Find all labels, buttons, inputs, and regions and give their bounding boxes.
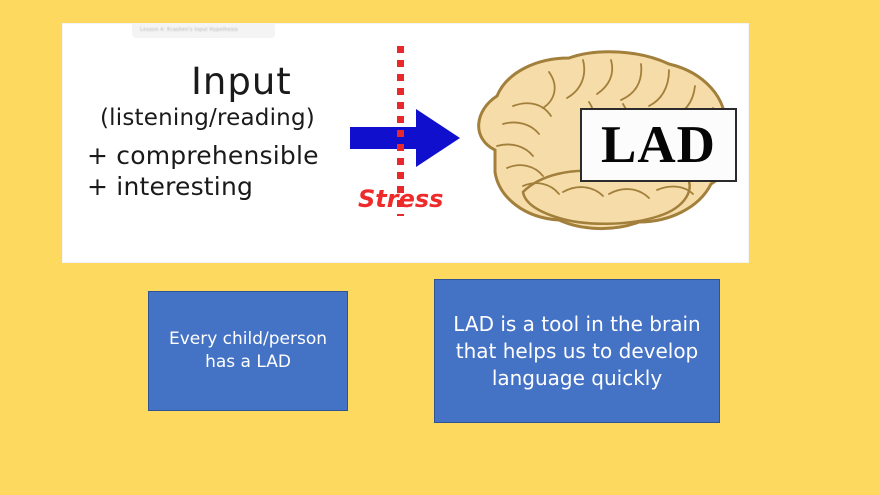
- slide-canvas: Lesson 4: Krashen's Input Hypothesis Inp…: [0, 0, 880, 495]
- brain-illustration: LAD: [463, 42, 743, 252]
- lad-label-box: LAD: [580, 108, 737, 182]
- bullet-interesting: + interesting: [87, 172, 253, 201]
- bullet-comprehensible: + comprehensible: [87, 141, 319, 170]
- input-hypothesis-image: Lesson 4: Krashen's Input Hypothesis Inp…: [63, 24, 748, 262]
- input-modes-label: (listening/reading): [100, 105, 315, 131]
- caption-box-lad-definition: LAD is a tool in the brain that helps us…: [434, 279, 720, 423]
- caption-box-every-child: Every child/person has a LAD: [148, 291, 348, 411]
- stress-label: Stress: [358, 185, 443, 213]
- input-title: Input: [191, 60, 292, 103]
- right-arrow-icon: [350, 107, 460, 169]
- faint-document-tab: Lesson 4: Krashen's Input Hypothesis: [132, 24, 275, 38]
- faint-document-tab-label: Lesson 4: Krashen's Input Hypothesis: [140, 27, 238, 33]
- lad-label-text: LAD: [601, 119, 716, 172]
